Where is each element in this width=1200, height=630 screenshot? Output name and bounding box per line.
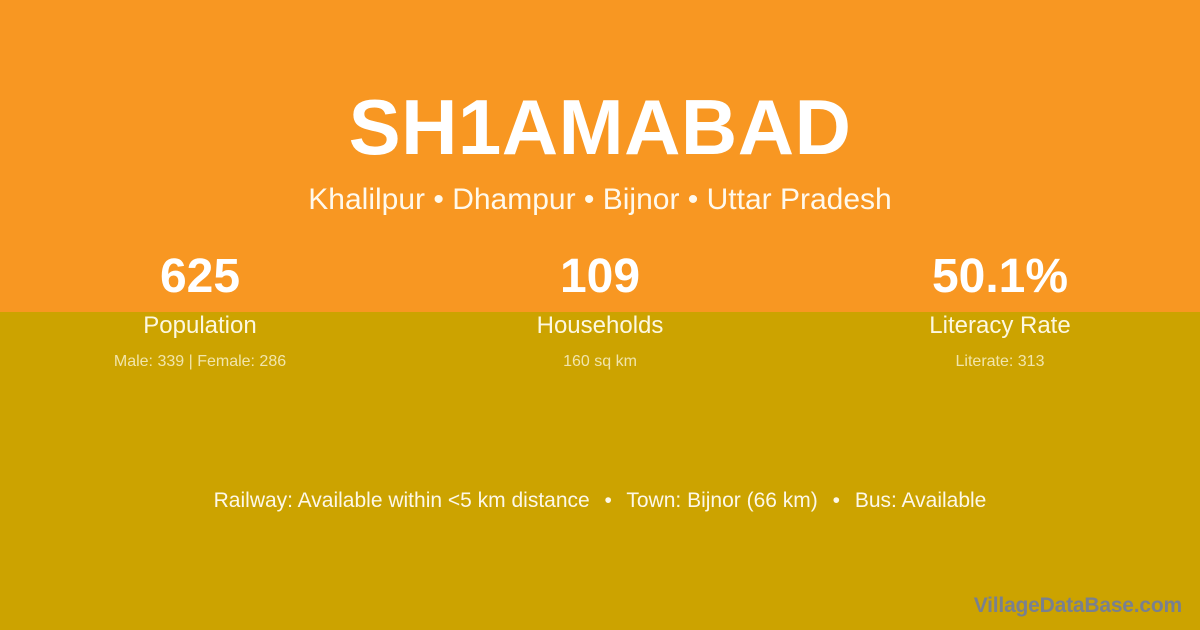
village-summary-card: SH1AMABAD Khalilpur • Dhampur • Bijnor •… <box>0 0 1200 630</box>
facility-town: Town: Bijnor (66 km) <box>626 489 817 512</box>
stat-households: 109 Households 160 sq km <box>400 248 800 372</box>
stat-value: 109 <box>400 248 800 307</box>
stats-row: 625 Population Male: 339 | Female: 286 1… <box>0 248 1200 372</box>
facility-bus: Bus: Available <box>855 489 987 512</box>
page-title: SH1AMABAD <box>0 88 1200 166</box>
stat-subtext: Male: 339 | Female: 286 <box>0 352 400 373</box>
facilities-line: Railway: Available within <5 km distance… <box>0 487 1200 514</box>
stat-population: 625 Population Male: 339 | Female: 286 <box>0 248 400 372</box>
stat-subtext: Literate: 313 <box>800 352 1200 373</box>
facility-railway: Railway: Available within <5 km distance <box>214 489 590 512</box>
facility-separator: • <box>824 487 849 514</box>
breadcrumb: Khalilpur • Dhampur • Bijnor • Uttar Pra… <box>0 182 1200 218</box>
stat-label: Population <box>0 311 400 341</box>
stat-label: Literacy Rate <box>800 311 1200 341</box>
stat-subtext: 160 sq km <box>400 352 800 373</box>
stat-literacy-rate: 50.1% Literacy Rate Literate: 313 <box>800 248 1200 372</box>
stat-value: 625 <box>0 248 400 307</box>
stat-label: Households <box>400 311 800 341</box>
facility-separator: • <box>596 487 621 514</box>
stat-value: 50.1% <box>800 248 1200 307</box>
site-watermark: VillageDataBase.com <box>974 593 1182 618</box>
